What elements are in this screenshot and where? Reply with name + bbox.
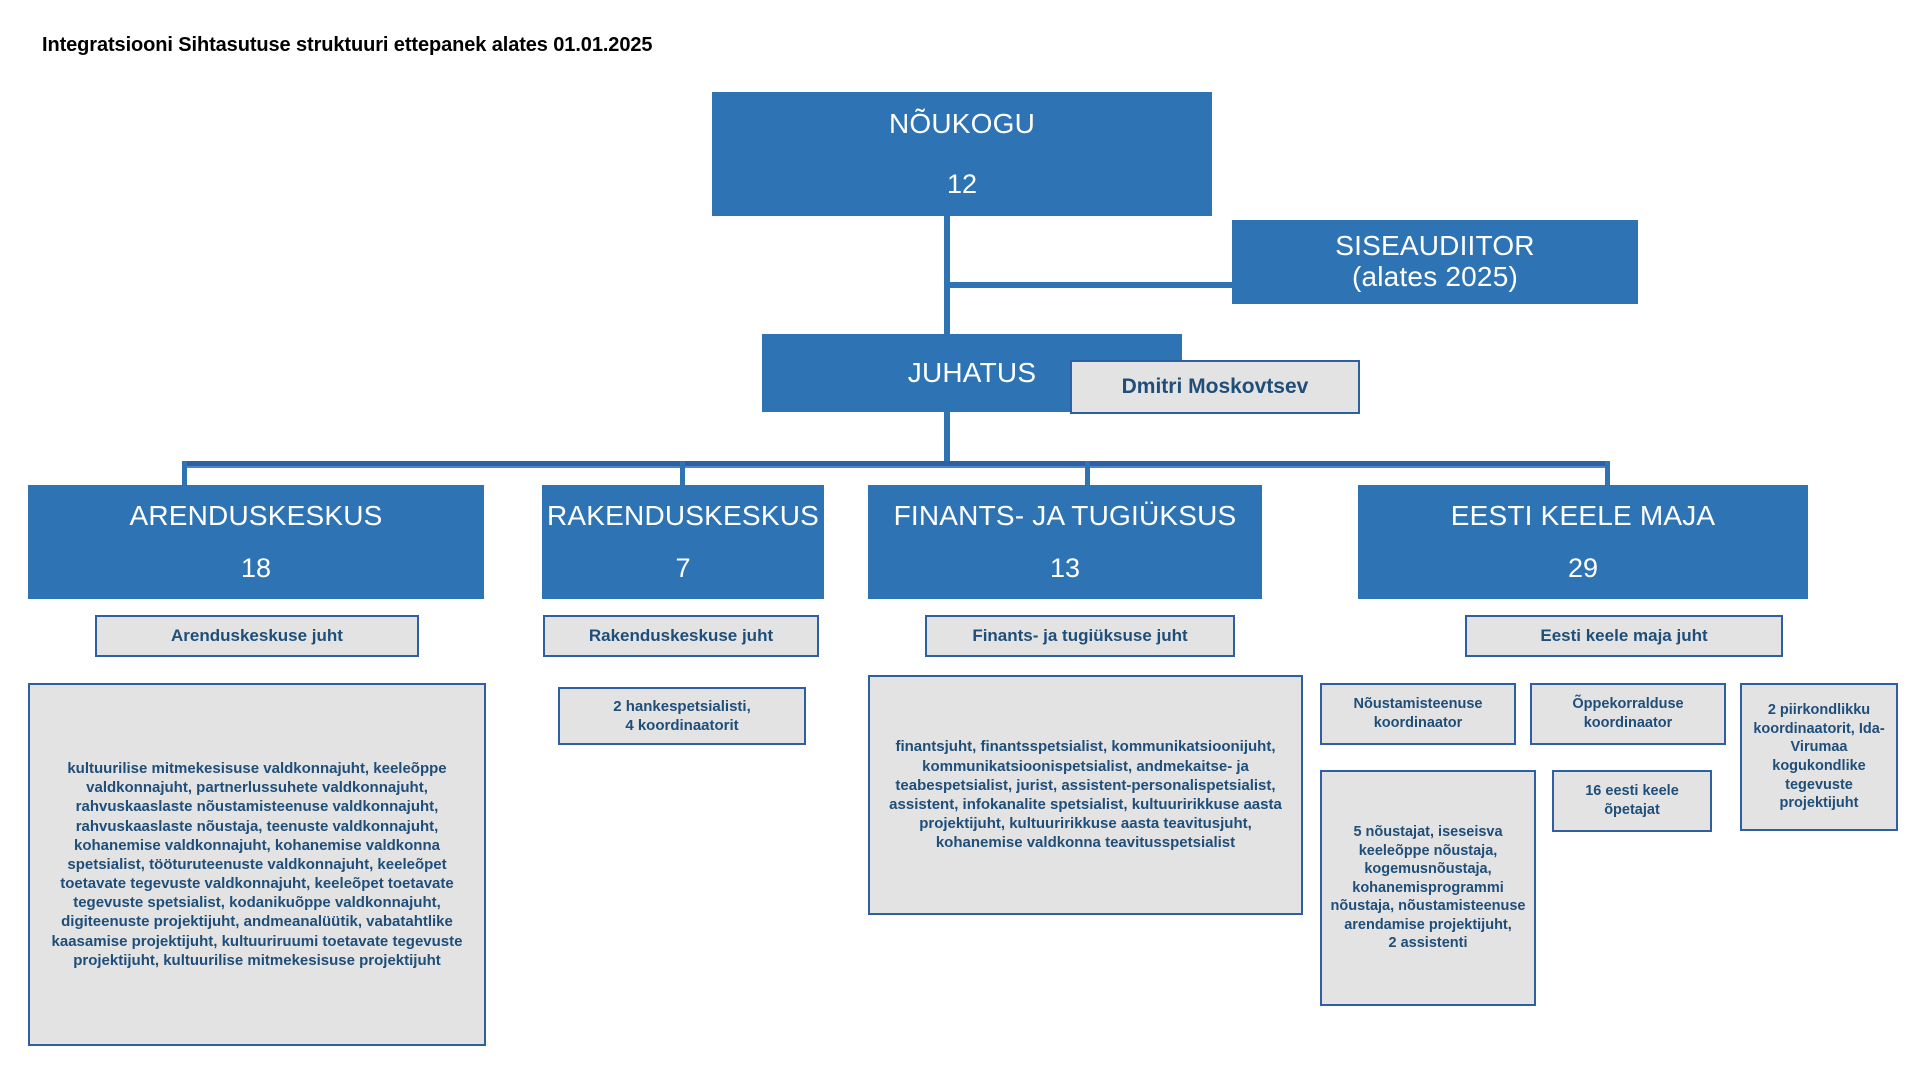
eesti-keele-maja-sub-box-1[interactable]: Nõustamisteenuse koordinaator xyxy=(1320,683,1516,745)
connector-drop-finants xyxy=(1085,461,1090,487)
rakenduskeskus-detail-box[interactable]: 2 hankespetsialisti, 4 koordinaatorit xyxy=(558,687,806,745)
eesti-keele-maja-head-label: Eesti keele maja juht xyxy=(1540,625,1707,647)
connector-noukogu-siseaudiitor xyxy=(944,282,1234,288)
arenduskeskus-head-label: Arenduskeskuse juht xyxy=(171,625,343,647)
node-noukogu[interactable]: NÕUKOGU 12 xyxy=(712,92,1212,216)
connector-juhatus-bus xyxy=(944,410,950,465)
org-chart-canvas: Integratsiooni Sihtasutuse struktuuri et… xyxy=(0,0,1920,1080)
juhatus-person-name: Dmitri Moskovtsev xyxy=(1122,375,1309,399)
page-title: Integratsiooni Sihtasutuse struktuuri et… xyxy=(42,34,652,57)
eesti-keele-maja-sub-label-1: Nõustamisteenuse koordinaator xyxy=(1326,695,1510,732)
eesti-keele-maja-sub-label-3: 2 piirkondlikku koordinaatorit, Ida-Viru… xyxy=(1746,701,1892,812)
eesti-keele-maja-label: EESTI KEELE MAJA xyxy=(1451,501,1716,532)
connector-noukogu-juhatus xyxy=(944,214,950,336)
noukogu-count: 12 xyxy=(947,170,977,200)
finants-tugiuksus-count: 13 xyxy=(1050,554,1080,584)
eesti-keele-maja-count: 29 xyxy=(1568,554,1598,584)
finants-tugiuksus-head-box[interactable]: Finants- ja tugiüksuse juht xyxy=(925,615,1235,657)
rakenduskeskus-head-box[interactable]: Rakenduskeskuse juht xyxy=(543,615,819,657)
eesti-keele-maja-head-box[interactable]: Eesti keele maja juht xyxy=(1465,615,1783,657)
finants-tugiuksus-head-label: Finants- ja tugiüksuse juht xyxy=(972,625,1187,647)
node-eesti-keele-maja[interactable]: EESTI KEELE MAJA 29 xyxy=(1358,485,1808,599)
finants-tugiuksus-detail-text: finantsjuht, finantsspetsialist, kommuni… xyxy=(876,737,1295,852)
rakenduskeskus-detail-text: 2 hankespetsialisti, 4 koordinaatorit xyxy=(613,697,751,735)
eesti-keele-maja-sub-box-3[interactable]: 2 piirkondlikku koordinaatorit, Ida-Viru… xyxy=(1740,683,1898,831)
node-siseaudiitor[interactable]: SISEAUDIITOR (alates 2025) xyxy=(1232,220,1638,304)
eesti-keele-maja-sub-box-2[interactable]: Õppekorralduse koordinaator xyxy=(1530,683,1726,745)
node-arenduskeskus[interactable]: ARENDUSKESKUS 18 xyxy=(28,485,484,599)
connector-drop-arenduskeskus xyxy=(182,461,187,487)
eesti-keele-maja-sub-label-2: Õppekorralduse koordinaator xyxy=(1536,695,1720,732)
arenduskeskus-count: 18 xyxy=(241,554,271,584)
connector-drop-rakenduskeskus xyxy=(680,461,685,487)
juhatus-person-box[interactable]: Dmitri Moskovtsev xyxy=(1070,360,1360,414)
siseaudiitor-label: SISEAUDIITOR xyxy=(1335,231,1534,262)
rakenduskeskus-count: 7 xyxy=(675,554,690,584)
noukogu-label: NÕUKOGU xyxy=(889,109,1035,140)
finants-tugiuksus-detail-box[interactable]: finantsjuht, finantsspetsialist, kommuni… xyxy=(868,675,1303,915)
rakenduskeskus-label: RAKENDUSKESKUS xyxy=(547,501,819,532)
juhatus-label: JUHATUS xyxy=(908,358,1036,389)
arenduskeskus-head-box[interactable]: Arenduskeskuse juht xyxy=(95,615,419,657)
finants-tugiuksus-label: FINANTS- JA TUGIÜKSUS xyxy=(894,501,1237,532)
arenduskeskus-detail-box[interactable]: kultuurilise mitmekesisuse valdkonnajuht… xyxy=(28,683,486,1046)
eesti-keele-maja-sub-label-4: 5 nõustajat, iseseisva keeleõppe nõustaj… xyxy=(1326,823,1530,953)
eesti-keele-maja-sub-box-5[interactable]: 16 eesti keele õpetajat xyxy=(1552,770,1712,832)
eesti-keele-maja-sub-label-5: 16 eesti keele õpetajat xyxy=(1558,782,1706,819)
siseaudiitor-sublabel: (alates 2025) xyxy=(1352,262,1518,293)
node-rakenduskeskus[interactable]: RAKENDUSKESKUS 7 xyxy=(542,485,824,599)
connector-bus xyxy=(182,461,1610,466)
arenduskeskus-detail-text: kultuurilise mitmekesisuse valdkonnajuht… xyxy=(36,759,478,970)
node-finants-tugiuksus[interactable]: FINANTS- JA TUGIÜKSUS 13 xyxy=(868,485,1262,599)
arenduskeskus-label: ARENDUSKESKUS xyxy=(129,501,382,532)
connector-drop-eesti-keele-maja xyxy=(1605,461,1610,487)
rakenduskeskus-head-label: Rakenduskeskuse juht xyxy=(589,625,773,647)
eesti-keele-maja-sub-box-4[interactable]: 5 nõustajat, iseseisva keeleõppe nõustaj… xyxy=(1320,770,1536,1006)
